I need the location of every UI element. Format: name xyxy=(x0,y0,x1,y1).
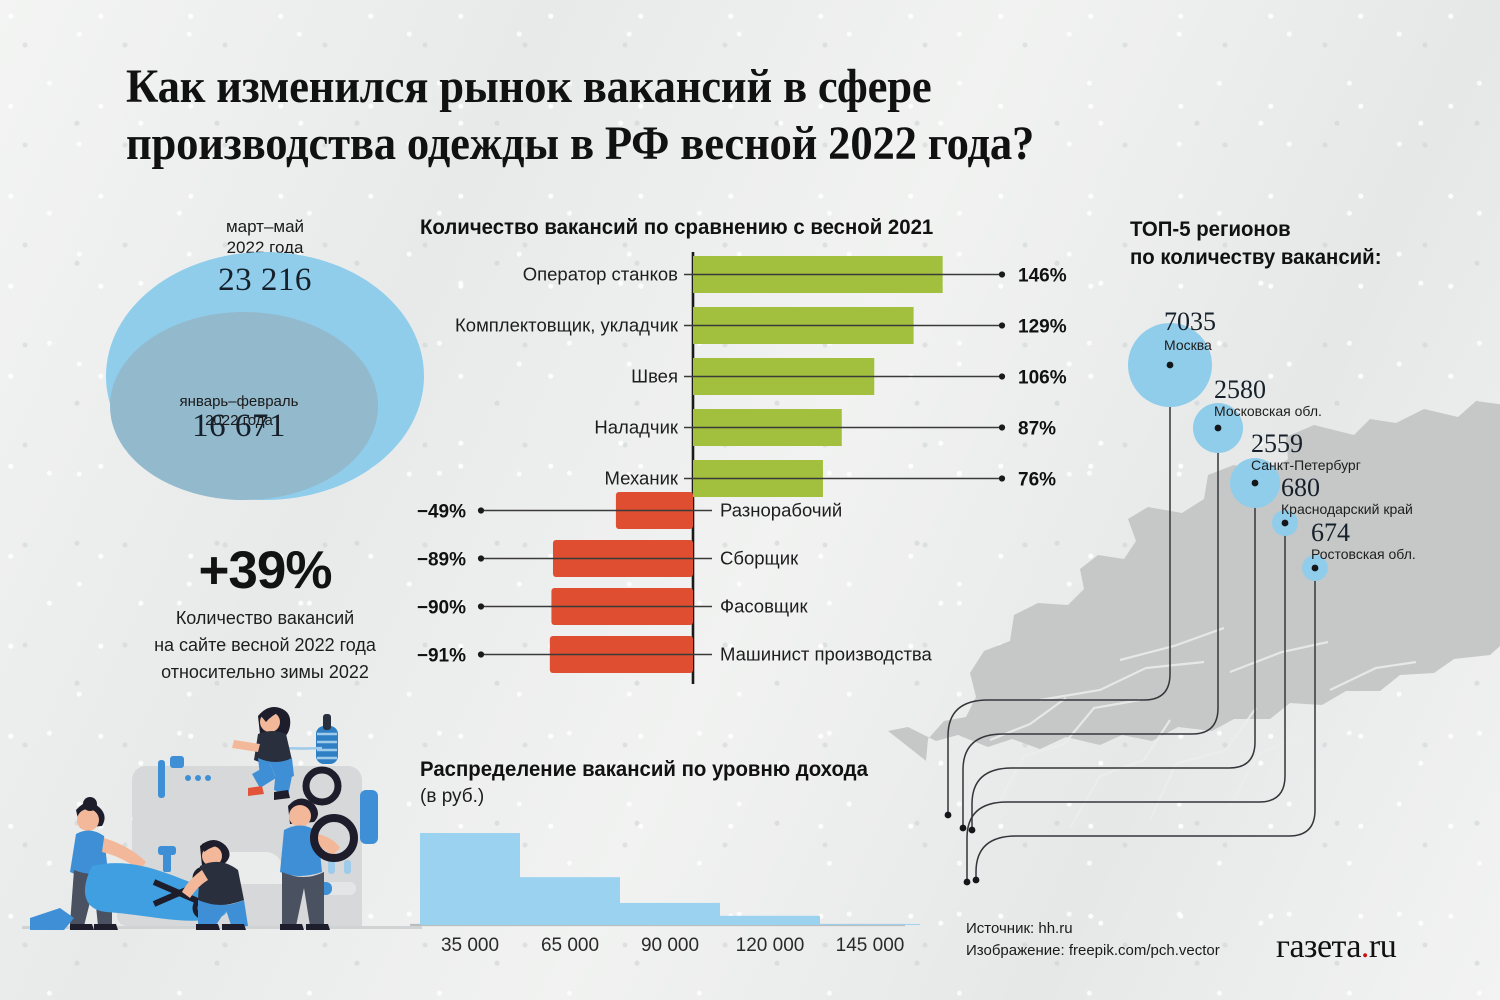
map-city-pin xyxy=(964,879,971,886)
logo-red-dot: . xyxy=(1361,928,1369,965)
region-vacancy-count: 680 xyxy=(1281,473,1320,502)
region-bubble-dot xyxy=(1167,362,1174,369)
region-bubble-dot xyxy=(1312,565,1319,572)
sewing-illustration xyxy=(22,688,422,948)
russia-map-shape xyxy=(888,389,1500,828)
region-bubble-dot xyxy=(1282,520,1289,527)
region-vacancy-count: 7035 xyxy=(1164,307,1216,336)
image-credit-line: Изображение: freepik.com/pch.vector xyxy=(966,940,1220,962)
gazeta-logo[interactable]: газета.ru xyxy=(1276,928,1396,966)
map-city-pin xyxy=(973,877,980,884)
region-vacancy-count: 2580 xyxy=(1214,375,1266,404)
region-name: Московская обл. xyxy=(1214,403,1322,419)
source-credits: Источник: hh.ru Изображение: freepik.com… xyxy=(966,918,1220,962)
region-name: Санкт-Петербург xyxy=(1251,457,1361,473)
region-name: Москва xyxy=(1164,337,1212,353)
region-vacancy-count: 674 xyxy=(1311,518,1350,547)
region-name: Краснодарский край xyxy=(1281,501,1413,517)
region-bubble-dot xyxy=(1215,425,1222,432)
region-name: Ростовская обл. xyxy=(1311,546,1416,562)
region-bubble-dot xyxy=(1252,480,1259,487)
map-city-pin xyxy=(960,825,967,832)
region-vacancy-count: 2559 xyxy=(1251,429,1303,458)
map-city-pin xyxy=(969,827,976,834)
source-line: Источник: hh.ru xyxy=(966,918,1220,940)
map-city-pin xyxy=(945,812,952,819)
logo-tld-text: ru xyxy=(1369,928,1396,965)
logo-main-text: газета xyxy=(1276,928,1361,965)
